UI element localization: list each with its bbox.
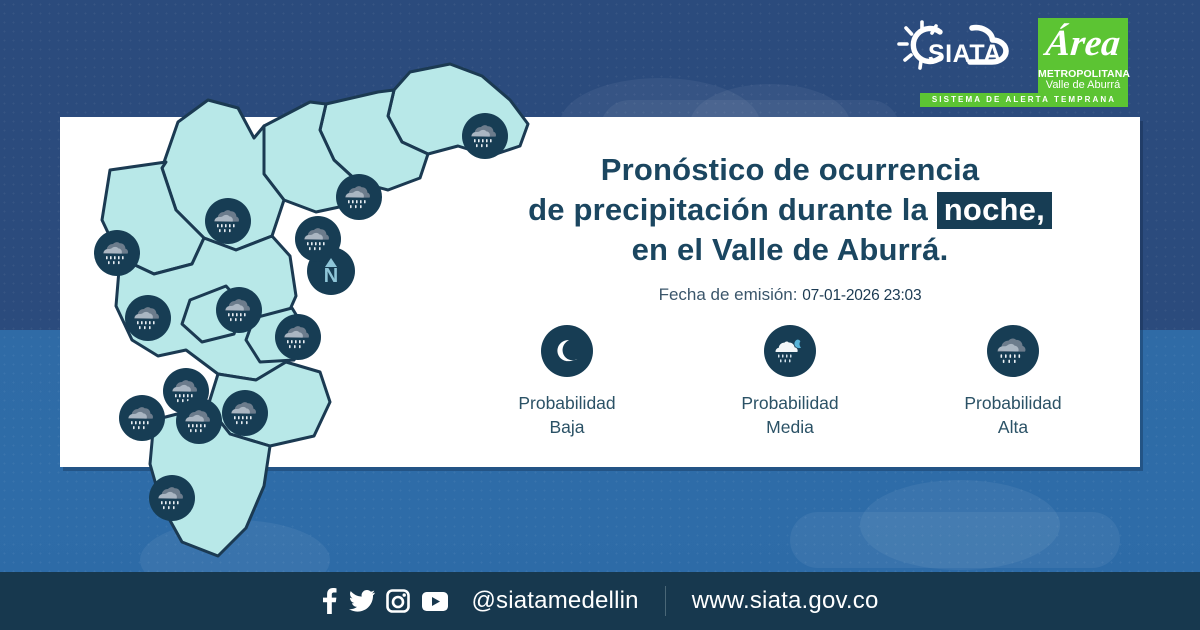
siata-logo: SIATA (896, 18, 1026, 90)
map-marker-alta[interactable] (222, 390, 268, 436)
forecast-panel: Pronóstico de ocurrencia de precipitació… (470, 150, 1110, 305)
social-icons (321, 588, 449, 614)
headline-highlight-noche: noche, (937, 192, 1052, 229)
headline-line-1: Pronóstico de ocurrencia (470, 150, 1110, 190)
social-handle[interactable]: @siatamedellin (471, 587, 638, 615)
headline-line-3: en el Valle de Aburrá. (470, 230, 1110, 270)
legend-item-alta: Probabilidad Alta (941, 325, 1086, 439)
legend-item-baja: Probabilidad Baja (495, 325, 640, 439)
infographic-root: N (0, 0, 1200, 630)
footer-divider (665, 586, 666, 616)
map-marker-alta[interactable] (94, 230, 140, 276)
youtube-icon[interactable] (421, 591, 449, 612)
instagram-icon[interactable] (386, 589, 410, 613)
amva-line2: Valle de Aburrá (1038, 79, 1128, 91)
area-metropolitana-logo: Área METROPOLITANA Valle de Aburrá (1038, 18, 1128, 96)
legend-label-line1: Probabilidad (495, 391, 640, 415)
cloud-rain-icon (987, 325, 1039, 377)
compass-label: N (324, 268, 338, 285)
legend-label-line1: Probabilidad (941, 391, 1086, 415)
website-url[interactable]: www.siata.gov.co (692, 587, 879, 615)
siata-wordmark: SIATA (928, 40, 1002, 69)
cloud-moon-rain-icon (764, 325, 816, 377)
valle-de-aburra-map: N (58, 50, 558, 570)
siata-tagline-bar: SISTEMA DE ALERTA TEMPRANA (920, 93, 1128, 107)
legend-label-media: Probabilidad Media (718, 391, 863, 439)
legend-label-line2: Media (718, 415, 863, 439)
map-marker-alta[interactable] (119, 395, 165, 441)
emission-date: Fecha de emisión: 07-01-2026 23:03 (470, 285, 1110, 305)
logo-group: SIATA Área METROPOLITANA Valle de Aburrá (896, 18, 1128, 96)
moon-icon (541, 325, 593, 377)
map-marker-alta[interactable] (205, 198, 251, 244)
headline-line-2-text: de precipitación durante la (528, 192, 928, 227)
headline: Pronóstico de ocurrencia de precipitació… (470, 150, 1110, 270)
map-marker-alta[interactable] (336, 174, 382, 220)
map-marker-alta[interactable] (216, 287, 262, 333)
map-marker-alta[interactable] (295, 216, 341, 262)
headline-line-2: de precipitación durante la noche, (470, 190, 1110, 230)
legend-label-line1: Probabilidad (718, 391, 863, 415)
emission-date-value: 07-01-2026 23:03 (802, 287, 921, 304)
map-marker-alta[interactable] (275, 314, 321, 360)
emission-date-label: Fecha de emisión: (659, 285, 798, 304)
twitter-icon[interactable] (349, 590, 375, 612)
map-marker-alta[interactable] (149, 475, 195, 521)
area-script-wordmark: Área (1036, 22, 1131, 65)
legend-label-baja: Probabilidad Baja (495, 391, 640, 439)
legend-label-line2: Alta (941, 415, 1086, 439)
facebook-icon[interactable] (321, 588, 338, 614)
map-marker-alta[interactable] (176, 398, 222, 444)
probability-legend: Probabilidad Baja (470, 325, 1110, 439)
map-marker-alta[interactable] (125, 295, 171, 341)
footer-bar: @siatamedellin www.siata.gov.co (0, 572, 1200, 630)
legend-label-alta: Probabilidad Alta (941, 391, 1086, 439)
legend-item-media: Probabilidad Media (718, 325, 863, 439)
legend-label-line2: Baja (495, 415, 640, 439)
